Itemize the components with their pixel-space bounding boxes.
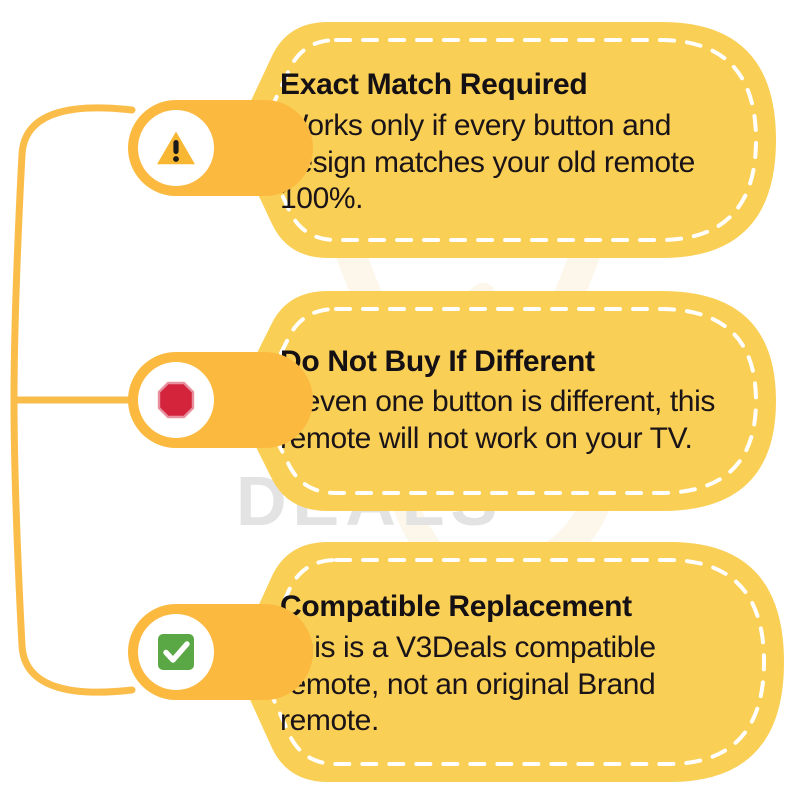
warning-triangle-icon	[151, 123, 201, 173]
check-square-icon	[151, 627, 201, 677]
infographic-root: DEALS Exact Match Required Works only if…	[0, 0, 800, 800]
stop-octagon-icon	[151, 375, 201, 425]
badge-circle	[138, 362, 214, 438]
badge-circle	[138, 614, 214, 690]
card-body: If even one button is different, this re…	[280, 384, 746, 457]
card-body: This is a V3Deals compatible remote, not…	[280, 630, 754, 740]
badge-stop[interactable]	[128, 352, 214, 448]
card-content: Compatible Replacement This is a V3Deals…	[280, 560, 754, 770]
card-title: Compatible Replacement	[280, 590, 754, 624]
card-exact-match-required[interactable]: Exact Match Required Works only if every…	[232, 18, 780, 262]
badge-warning[interactable]	[128, 100, 214, 196]
card-title: Do Not Buy If Different	[280, 345, 746, 379]
badge-circle	[138, 110, 214, 186]
card-content: Do Not Buy If Different If even one butt…	[280, 303, 746, 499]
card-do-not-buy-if-different[interactable]: Do Not Buy If Different If even one butt…	[232, 287, 780, 515]
badge-approved[interactable]	[128, 604, 214, 700]
card-content: Exact Match Required Works only if every…	[280, 40, 746, 246]
card-title: Exact Match Required	[280, 68, 746, 102]
card-body: Works only if every button and design ma…	[280, 108, 746, 218]
card-compatible-replacement[interactable]: Compatible Replacement This is a V3Deals…	[232, 538, 788, 786]
